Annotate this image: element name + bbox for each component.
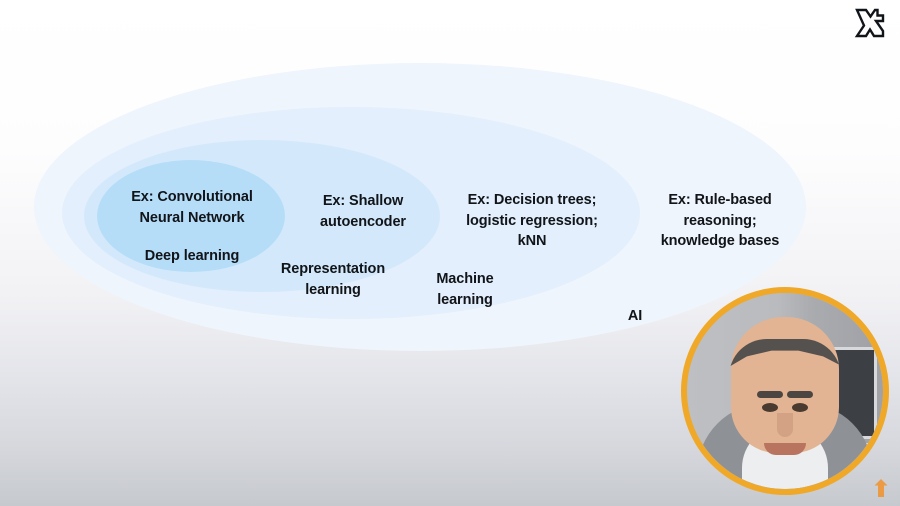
example-label-representation-learning: Ex: Shallow autoencoder (292, 191, 434, 232)
presenter-eye-right (792, 403, 808, 412)
orange-arrow-watermark-icon (872, 478, 890, 498)
presenter-hair (729, 339, 841, 397)
presenter-eye-left (762, 403, 778, 412)
presenter-eyebrow-right (787, 391, 813, 398)
presenter-nose (777, 413, 793, 437)
category-label-machine-learning: Machine learning (395, 269, 535, 310)
x-mark-logo-icon (853, 6, 887, 40)
category-label-ai: AI (592, 306, 678, 327)
presenter-video-bubble[interactable] (681, 287, 889, 495)
presenter-eyebrow-left (757, 391, 783, 398)
presenter-face (731, 317, 839, 453)
example-label-ai: Ex: Rule-based reasoning; knowledge base… (640, 190, 800, 252)
category-label-deep-learning: Deep learning (97, 246, 287, 267)
example-label-machine-learning: Ex: Decision trees; logistic regression;… (452, 190, 612, 252)
presenter-mouth (764, 443, 806, 455)
category-label-representation-learning: Representation learning (262, 259, 404, 300)
presenter-video-frame (687, 293, 883, 489)
slide-canvas: Ex: Convolutional Neural Network Deep le… (0, 0, 900, 506)
example-label-deep-learning: Ex: Convolutional Neural Network (97, 187, 287, 228)
